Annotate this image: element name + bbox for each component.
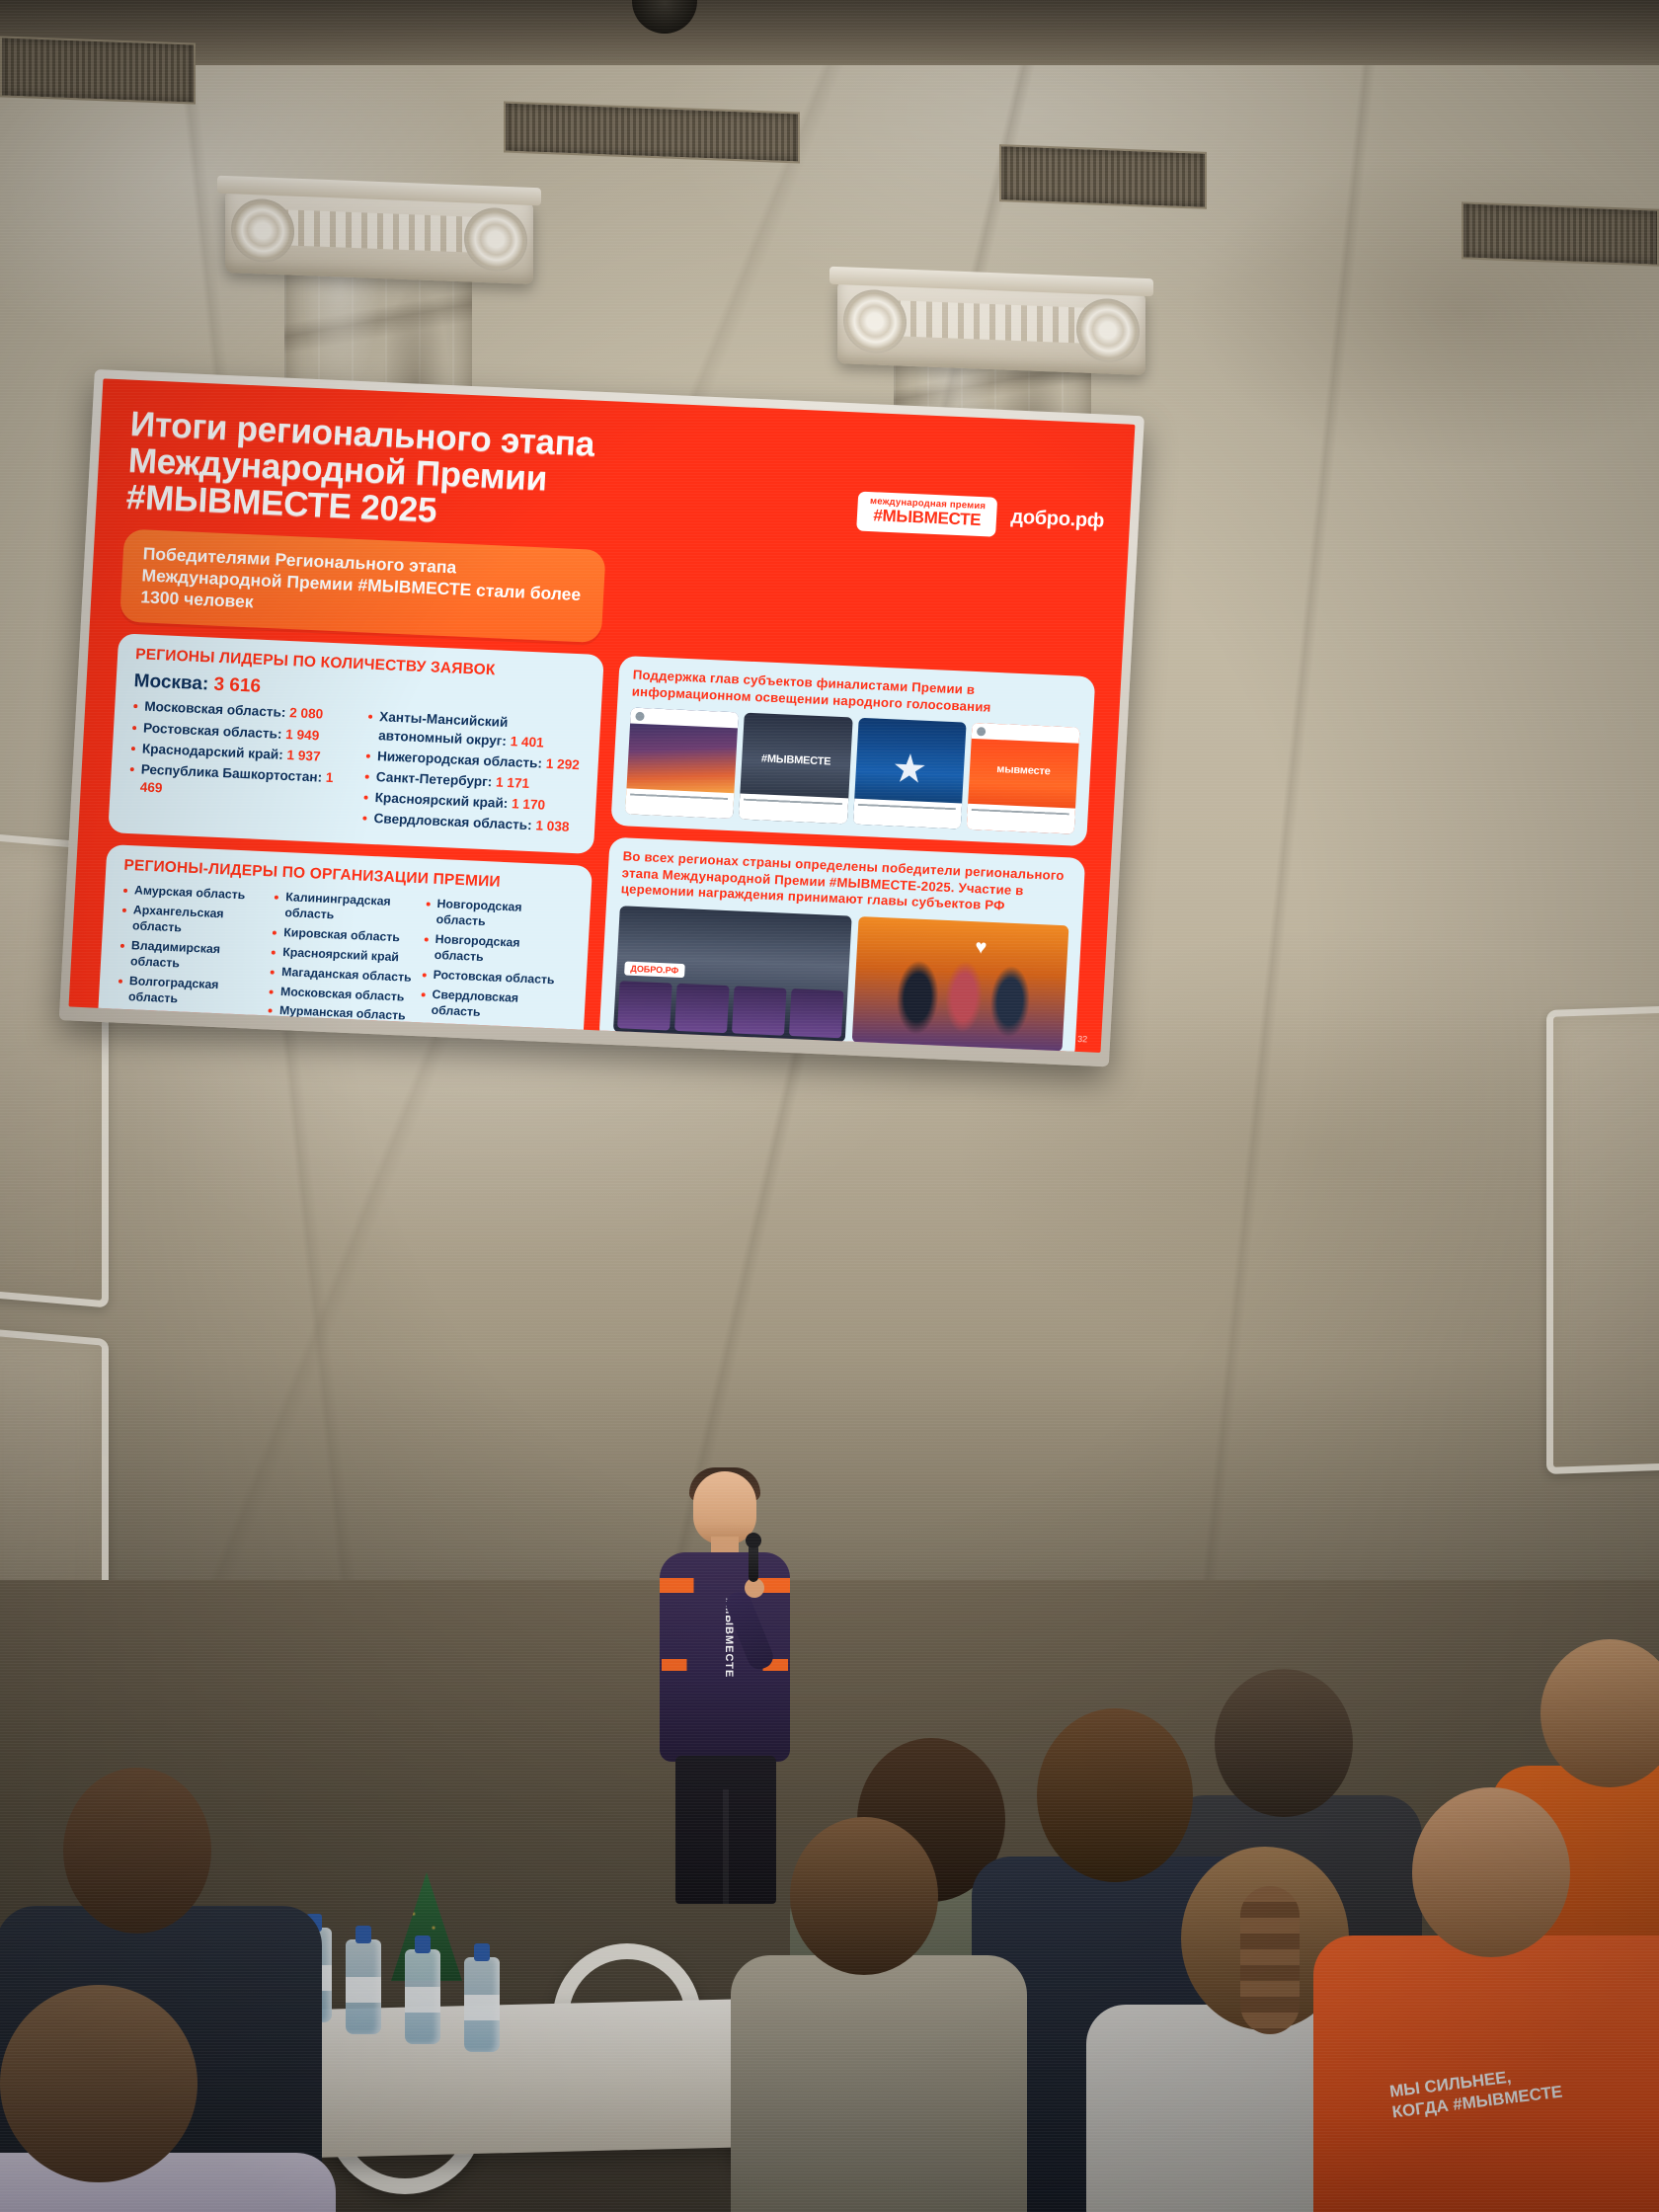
dobro-rf-overlay: ДОБРО.РФ (624, 961, 685, 978)
region-name: Ханты-Мансийский автономный округ: (378, 710, 511, 749)
slide-left-column: РЕГИОНЫ ЛИДЕРЫ ПО КОЛИЧЕСТВУ ЗАЯВОК Моск… (94, 634, 604, 1053)
region-value: 1 401 (510, 734, 544, 750)
water-bottle (346, 1939, 381, 2034)
post-header-bar (971, 723, 1079, 744)
region-list-item: Кировская область (272, 924, 422, 947)
recipient-thumb (617, 981, 672, 1030)
audience-member (750, 1817, 997, 2212)
ceiling-vent (504, 101, 800, 163)
speaker: #МЫВМЕСТЕ (642, 1471, 810, 1906)
ceiling-vent (999, 144, 1207, 209)
brand-logos: международная премия #МЫВМЕСТЕ добро.рф (856, 438, 1108, 542)
support-panel: Поддержка глав субъектов финалистами Пре… (610, 656, 1095, 846)
applications-right-column: Ханты-Мансийский автономный округ: 1 401… (361, 708, 585, 839)
region-list-item: Московская область (269, 983, 419, 1005)
region-list-item: Свердловская область (419, 986, 570, 1024)
region-name: Красноярский край: (374, 790, 512, 811)
post-caption-bar (739, 794, 848, 825)
region-list-item: Владимирская область (118, 937, 270, 976)
myvmeste-post-thumb: мывместе (966, 723, 1079, 834)
region-list-item: Красноярский край (271, 943, 421, 966)
slide-page-number: 32 (1077, 1034, 1088, 1044)
ionic-capital (225, 190, 533, 284)
region-name: Санкт-Петербург: (376, 769, 497, 789)
ceremony-panel: Во всех регионах страны определены побед… (598, 837, 1085, 1053)
bottle-label (405, 1987, 440, 2013)
audience-head (0, 1985, 197, 2182)
jacket-shoulder-stripe (660, 1578, 790, 1593)
region-value: 1 170 (512, 796, 546, 812)
region-name: Краснодарский край: (142, 741, 287, 762)
organizers-column-2: Калининградская областьКировская область… (264, 889, 424, 1053)
post-caption-bar (852, 799, 962, 829)
myvmeste-post-label: мывместе (996, 763, 1051, 777)
audience-head (63, 1768, 211, 1934)
audience-head (1037, 1708, 1193, 1882)
myvmeste-logo-name: #МЫВМЕСТЕ (869, 507, 986, 529)
ceiling-vent (1461, 201, 1659, 266)
bottle-label (464, 1995, 500, 2020)
capital-band (895, 300, 1088, 344)
region-value: 1 949 (285, 726, 320, 742)
winners-banner: Победителями Регионального этапа Междуна… (119, 529, 606, 644)
slide: Итоги регионального этапа Международной … (68, 378, 1135, 1053)
applications-left-column: Московская область: 2 080Ростовская обла… (126, 697, 350, 829)
recipient-thumb (732, 986, 787, 1035)
moscow-skyline-thumb (625, 708, 739, 820)
ceremony-panel-heading: Во всех регионах страны определены побед… (620, 849, 1071, 918)
region-list-item: Республика Башкортостан: 1 469 (127, 760, 347, 806)
volute-scroll-icon (231, 197, 294, 263)
region-value: 2 080 (289, 706, 324, 722)
volute-scroll-icon (1076, 297, 1140, 362)
water-bottle (405, 1949, 440, 2044)
region-name: Республика Башкортостан: (140, 761, 326, 784)
audience-head (790, 1817, 938, 1975)
post-header-bar (630, 708, 739, 729)
speaker-trousers (675, 1756, 776, 1904)
recipient-thumb (674, 984, 730, 1033)
star-icon: ★ (891, 749, 928, 790)
conference-photo: Итоги регионального этапа Международной … (0, 0, 1659, 2212)
applications-panel: РЕГИОНЫ ЛИДЕРЫ ПО КОЛИЧЕСТВУ ЗАЯВОК Моск… (108, 634, 604, 854)
group-photo-label: #МЫВМЕСТЕ (761, 752, 831, 767)
applications-left-list: Московская область: 2 080Ростовская обла… (127, 697, 350, 805)
ceiling-band (0, 0, 1659, 65)
ceremony-hall-photo: ДОБРО.РФ (613, 906, 852, 1042)
volute-scroll-icon (843, 288, 907, 354)
ceiling-vent (0, 36, 196, 104)
region-list-item: Новгородская область (424, 895, 575, 933)
water-bottle (464, 1957, 500, 2052)
group-photo-thumb: #МЫВМЕСТЕ (739, 713, 852, 825)
organizers-column-3: Новгородская областьНовгородская область… (415, 895, 575, 1053)
region-list-item: Мурманская область (268, 1002, 418, 1025)
post-caption-bar (625, 789, 735, 820)
slide-right-column: Поддержка глав субъектов финалистами Пре… (594, 656, 1095, 1053)
region-list-item: Амурская область (122, 882, 273, 905)
award-figures (852, 916, 1069, 1052)
braided-hair (1240, 1886, 1300, 2034)
region-list-item: Архангельская область (120, 901, 272, 939)
myvmeste-logo: международная премия #МЫВМЕСТЕ (856, 492, 997, 537)
dobro-rf-logo: добро.рф (1010, 507, 1105, 533)
region-value: 1 171 (496, 774, 530, 790)
audience-body (731, 1955, 1027, 2212)
region-name: Нижегородская область: (377, 749, 547, 771)
speaker-head (693, 1471, 756, 1544)
capital-band (282, 209, 476, 253)
recipient-thumb (789, 988, 844, 1038)
region-name: Свердловская область: (373, 811, 536, 832)
region-name: Московская область: (144, 699, 290, 721)
region-list-item: Магаданская область (270, 963, 420, 986)
applications-columns: Московская область: 2 080Ростовская обла… (126, 697, 585, 839)
wall-lower-shade (0, 1007, 1659, 1639)
audience-head (1215, 1669, 1353, 1817)
wall-panel-moulding (1546, 1004, 1659, 1474)
screen-bezel: Итоги регионального этапа Международной … (59, 369, 1145, 1066)
region-value: 1 038 (535, 818, 570, 833)
region-value: 1 937 (286, 748, 321, 763)
volute-scroll-icon (464, 206, 527, 272)
audience-member-orange-hoodie (1353, 1787, 1659, 2212)
post-caption-bar (966, 804, 1075, 834)
microphone-icon (749, 1542, 758, 1582)
applications-right-list: Ханты-Мансийский автономный округ: 1 401… (361, 708, 585, 836)
region-list-item: Калининградская область (273, 889, 424, 927)
organizers-panel: РЕГИОНЫ-ЛИДЕРЫ ПО ОРГАНИЗАЦИИ ПРЕМИИ Аму… (94, 844, 593, 1053)
region-list-item: Новгородская область (422, 930, 573, 969)
top-region-value: 3 616 (213, 674, 262, 697)
slide-title: Итоги регионального этапа Международной … (125, 406, 595, 536)
support-thumbnails: #МЫВМЕСТЕ ★ мывместе (625, 708, 1079, 834)
presentation-screen: Итоги регионального этапа Международной … (59, 369, 1145, 1066)
award-handover-photo: ♥ (852, 916, 1069, 1052)
top-region-label: Москва: (133, 671, 209, 695)
region-list-item: Ростовская область (421, 967, 571, 989)
ceremony-photos: ДОБРО.РФ ♥ (613, 906, 1069, 1052)
region-value: 1 292 (545, 755, 580, 771)
region-name: Ростовская область: (143, 720, 286, 741)
star-monument-thumb: ★ (852, 718, 966, 829)
award-recipients-strip (613, 981, 848, 1042)
bottle-label (346, 1977, 381, 2003)
slide-body: РЕГИОНЫ ЛИДЕРЫ ПО КОЛИЧЕСТВУ ЗАЯВОК Моск… (94, 634, 1096, 1053)
region-list-item: Ханты-Мансийский автономный округ: 1 401 (366, 708, 586, 753)
audience-head (1412, 1787, 1570, 1957)
ionic-capital (837, 280, 1145, 375)
region-list-item: Волгоградская область (117, 973, 268, 1011)
